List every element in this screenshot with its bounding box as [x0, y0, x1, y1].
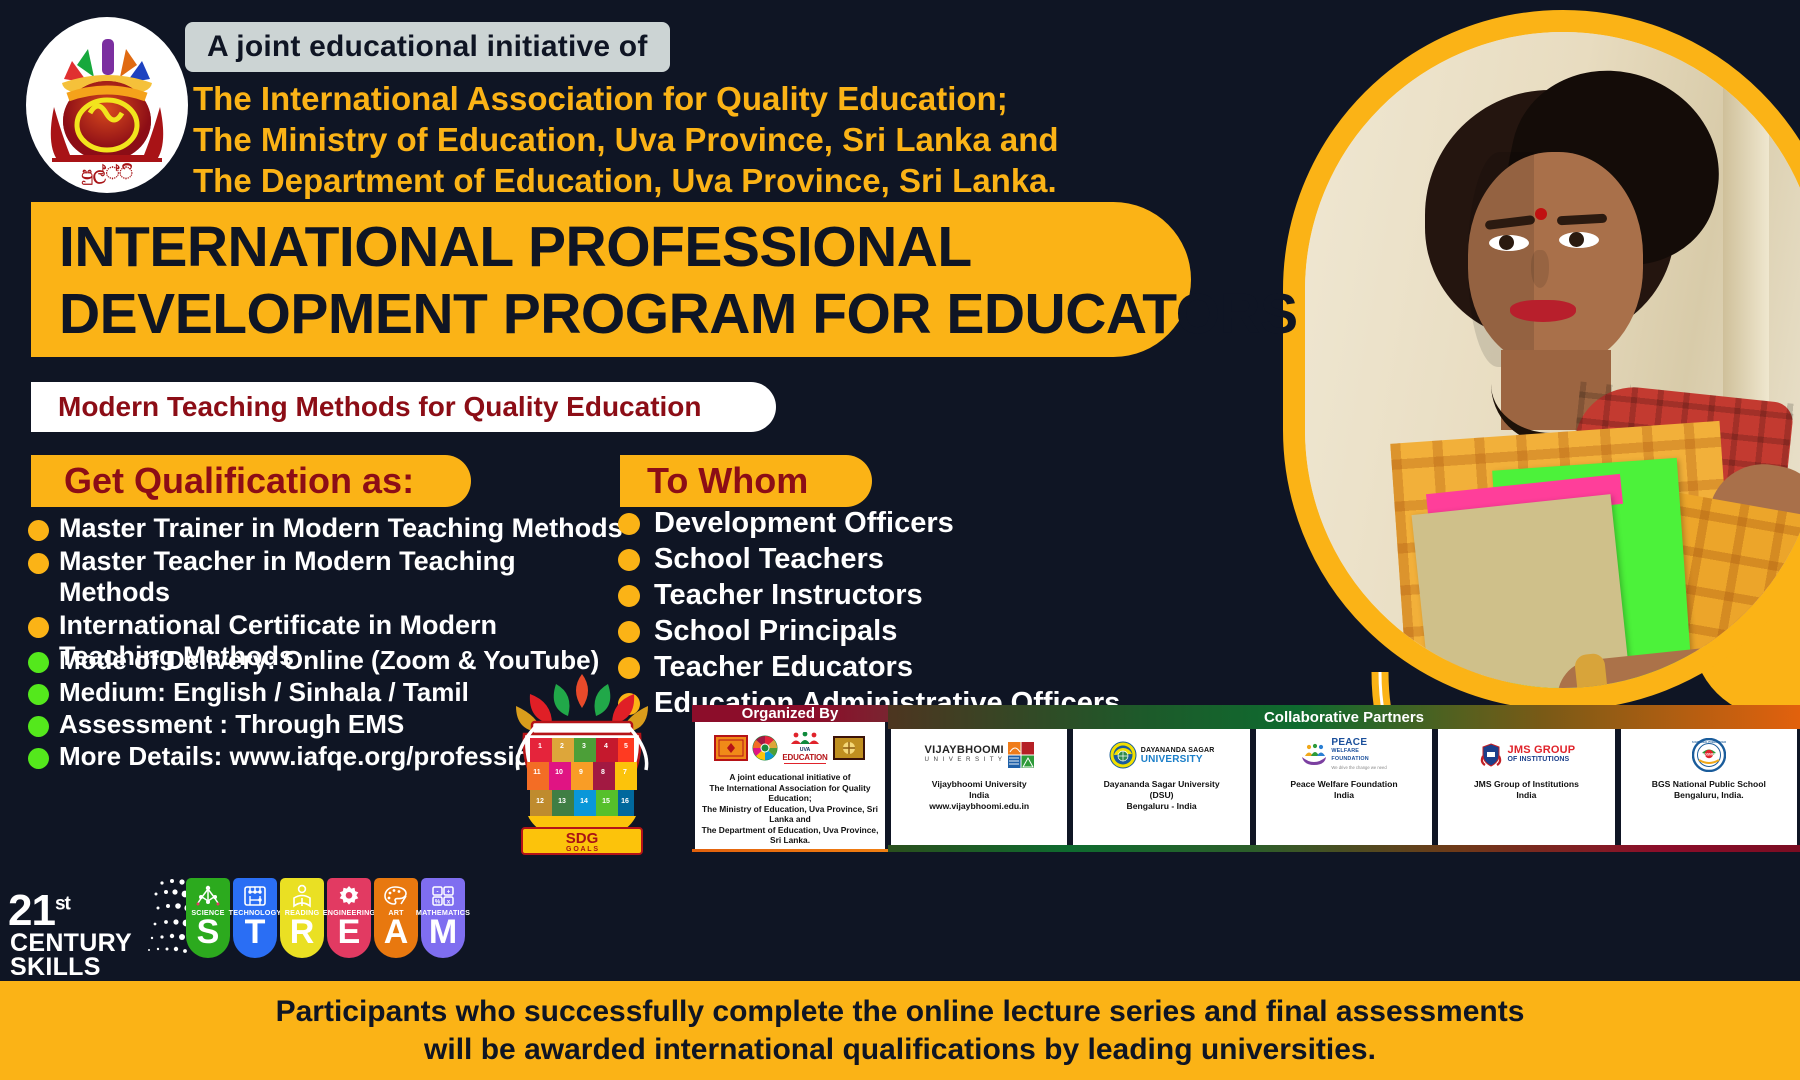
- svg-text:-: -: [437, 889, 439, 895]
- jms-logo-main: JMS GROUP: [1508, 746, 1576, 755]
- dsu-logo-sub: UNIVERSITY: [1141, 755, 1203, 764]
- svg-text:14: 14: [580, 798, 588, 805]
- qualification-item-2: Master Teacher in Modern Teaching Method…: [59, 546, 628, 608]
- list-item: Development Officers: [618, 508, 1138, 538]
- partner-caption-vijaybhoomi: Vijaybhoomi University India www.vijaybh…: [929, 779, 1029, 812]
- organized-by-heading: Organized By: [742, 705, 839, 722]
- svg-text:7: 7: [623, 769, 627, 776]
- footer-banner: Participants who successfully complete t…: [0, 981, 1800, 1080]
- bullet-dot-icon: [28, 652, 49, 673]
- to-whom-item-4: School Principals: [654, 616, 897, 646]
- century-ordinal-suffix: st: [55, 893, 70, 914]
- book-reader-icon: [289, 884, 315, 908]
- stream-letter-engineering: E: [338, 916, 361, 948]
- svg-text:+: +: [447, 889, 451, 895]
- organized-by-caption: A joint educational initiative of The In…: [698, 772, 882, 846]
- jms-group-logo: JMS GROUP OF INSTITUTIONS: [1478, 734, 1576, 776]
- svg-text:1: 1: [538, 743, 542, 750]
- bullet-dot-icon: [28, 716, 49, 737]
- partner-caption-jms-group: JMS Group of Institutions India: [1474, 779, 1579, 801]
- partner-caption-dayananda-sagar: Dayananda Sagar University (DSU) Bengalu…: [1104, 779, 1220, 812]
- collaborative-partners-strip: [888, 845, 1800, 852]
- photo-inner: [1305, 32, 1800, 688]
- svg-text:15: 15: [602, 798, 610, 805]
- organized-by-header: Organized By: [692, 705, 888, 722]
- poster-root: පුල්්ි A joint educational initiative of…: [0, 0, 1800, 1080]
- gear-icon: [336, 884, 362, 908]
- jms-crest-icon: [1478, 742, 1504, 768]
- list-item: Master Teacher in Modern Teaching Method…: [28, 546, 628, 608]
- page-title-line-2: DEVELOPMENT PROGRAM FOR EDUCATORS: [59, 281, 1191, 348]
- subtitle-band: Modern Teaching Methods for Quality Educ…: [31, 382, 776, 432]
- collaborative-partners-body: VIJAYBHOOMI U N I V E R S I T Y: [888, 729, 1800, 845]
- svg-text:8: 8: [601, 769, 605, 776]
- partner-box-bgs-school: BGSNPS BGS NATIONAL PUBLIC SCHOOL BGS Na…: [1621, 729, 1797, 845]
- bullet-dot-icon: [618, 513, 640, 535]
- circuit-icon: [242, 884, 268, 908]
- svg-text:BGS NATIONAL PUBLIC SCHOOL: BGS NATIONAL PUBLIC SCHOOL: [1692, 740, 1726, 744]
- list-item: School Principals: [618, 616, 1138, 646]
- iafqe-logo: පුල්්ි: [26, 17, 188, 193]
- bgs-school-logo: BGSNPS BGS NATIONAL PUBLIC SCHOOL: [1692, 734, 1726, 776]
- partner-box-jms-group: JMS GROUP OF INSTITUTIONS JMS Group of I…: [1438, 729, 1614, 845]
- qualification-heading: Get Qualification as:: [64, 460, 414, 502]
- peace-welfare-logo: PEACE WELFARE FOUNDATION We drive the ch…: [1301, 734, 1386, 776]
- partner-box-dayananda-sagar: DAYANANDA SAGAR UNIVERSITY Dayananda Sag…: [1073, 729, 1249, 845]
- molecule-icon: [195, 884, 221, 908]
- bullet-dot-icon: [28, 520, 49, 541]
- to-whom-item-5: Teacher Educators: [654, 652, 913, 682]
- stream-letter-technology: T: [245, 916, 266, 948]
- vijaybhoomi-logo-main: VIJAYBHOOMI: [925, 745, 1004, 755]
- vijaybhoomi-logo: VIJAYBHOOMI U N I V E R S I T Y: [925, 734, 1034, 776]
- organized-by-body: UVA EDUCATION A joint educational initia…: [692, 722, 888, 849]
- page-title-line-1: INTERNATIONAL PROFESSIONAL: [59, 214, 1191, 281]
- photo-nose: [1531, 250, 1549, 288]
- svg-text:3: 3: [582, 743, 586, 750]
- to-whom-item-1: Development Officers: [654, 508, 954, 538]
- uva-education-logo: UVA EDUCATION: [782, 732, 827, 765]
- partner-caption-bgs-school: BGS National Public School Bengaluru, In…: [1652, 779, 1766, 801]
- svg-text:4: 4: [604, 743, 608, 750]
- svg-text:12: 12: [536, 798, 544, 805]
- qualification-heading-pill: Get Qualification as:: [31, 455, 471, 507]
- collaborative-partners-column: Collaborative Partners VIJAYBHOOMI U N I…: [888, 705, 1800, 852]
- footer-line-1: Participants who successfully complete t…: [276, 993, 1525, 1031]
- peace-logo-tagline: We drive the change we need: [1331, 764, 1386, 772]
- svg-text:16: 16: [621, 798, 629, 805]
- page-subtitle: Modern Teaching Methods for Quality Educ…: [58, 391, 702, 423]
- stream-letter-art: A: [384, 916, 409, 948]
- joint-initiative-text: A joint educational initiative of: [207, 30, 648, 64]
- logo-graphic: පුල්්ි: [32, 25, 182, 185]
- sdg-goals-icon: 123 45 11109 87 121314 1516 SDG G O A L …: [494, 670, 670, 860]
- list-item: Teacher Educators: [618, 652, 1138, 682]
- to-whom-heading-pill: To Whom: [620, 455, 872, 507]
- list-item: Master Trainer in Modern Teaching Method…: [28, 513, 628, 544]
- organizer-line-2: The Ministry of Education, Uva Province,…: [193, 119, 1059, 160]
- qualification-item-1: Master Trainer in Modern Teaching Method…: [59, 513, 623, 544]
- main-title-band: INTERNATIONAL PROFESSIONAL DEVELOPMENT P…: [31, 202, 1191, 357]
- bgs-seal-icon: BGSNPS BGS NATIONAL PUBLIC SCHOOL: [1692, 738, 1726, 772]
- sdg-label-main: SDG: [566, 830, 599, 847]
- stream-badges: SCIENCE S TECHNOLOGY T READING: [186, 878, 465, 958]
- svg-text:පුල්්ි: පුල්්ි: [81, 163, 133, 185]
- sri-lanka-emblem-icon: [714, 735, 748, 761]
- list-item: Teacher Instructors: [618, 580, 1138, 610]
- peace-logo-main: PEACE: [1331, 739, 1367, 747]
- stream-card-technology: TECHNOLOGY T: [233, 878, 277, 958]
- partner-caption-peace-welfare: Peace Welfare Foundation India: [1290, 779, 1397, 801]
- bullet-dot-icon: [618, 621, 640, 643]
- organizer-line-3: The Department of Education, Uva Provinc…: [193, 160, 1059, 201]
- delivery-item-medium: Medium: English / Sinhala / Tamil: [59, 677, 469, 707]
- century-number: 21st: [8, 886, 70, 935]
- sdg-label-sub: G O A L S: [566, 846, 598, 853]
- partner-box-vijaybhoomi: VIJAYBHOOMI U N I V E R S I T Y: [891, 729, 1067, 845]
- stream-card-science: SCIENCE S: [186, 878, 230, 958]
- century-word-1: CENTURY: [10, 931, 132, 955]
- organizer-line-1: The International Association for Qualit…: [193, 78, 1059, 119]
- century-word-2: SKILLS: [10, 955, 132, 979]
- svg-text:10: 10: [555, 769, 563, 776]
- collaborative-partners-header: Collaborative Partners: [888, 705, 1800, 729]
- organized-by-column: Organized By: [692, 705, 888, 852]
- photo-lips: [1510, 300, 1576, 322]
- bullet-dot-icon: [28, 684, 49, 705]
- stream-card-mathematics: -+ %x MATHEMATICS M: [421, 878, 465, 958]
- footer-line-2: will be awarded international qualificat…: [424, 1031, 1376, 1069]
- peace-logo-sub: WELFARE FOUNDATION: [1331, 747, 1379, 763]
- organized-by-strip: [692, 849, 888, 853]
- calculator-icon: -+ %x: [430, 884, 456, 908]
- to-whom-list: Development Officers School Teachers Tea…: [618, 508, 1138, 724]
- delivery-item-more-details[interactable]: More Details: www.iafqe.org/professional: [59, 741, 568, 771]
- stream-letter-mathematics: M: [429, 916, 457, 948]
- organized-by-box: UVA EDUCATION A joint educational initia…: [695, 722, 885, 849]
- list-item: School Teachers: [618, 544, 1138, 574]
- dsu-seal-icon: [1109, 741, 1137, 769]
- bullet-dot-icon: [618, 585, 640, 607]
- jms-logo-sub: OF INSTITUTIONS: [1508, 755, 1570, 764]
- to-whom-item-3: Teacher Instructors: [654, 580, 923, 610]
- bullet-dot-icon: [28, 553, 49, 574]
- svg-text:11: 11: [533, 769, 541, 776]
- to-whom-item-2: School Teachers: [654, 544, 884, 574]
- dayananda-sagar-logo: DAYANANDA SAGAR UNIVERSITY: [1109, 734, 1215, 776]
- delivery-item-assessment: Assessment : Through EMS: [59, 709, 404, 739]
- vijaybhoomi-mark-icon: [1008, 742, 1034, 768]
- svg-text:BGSNPS: BGSNPS: [1702, 753, 1717, 757]
- ministry-emblem-icon: [832, 735, 866, 761]
- svg-text:2: 2: [560, 743, 564, 750]
- uva-people-icon: [785, 732, 825, 745]
- student-photo: [1283, 10, 1800, 710]
- joint-initiative-pill: A joint educational initiative of: [185, 22, 670, 72]
- photo-face-shadow: [1468, 152, 1534, 367]
- svg-text:9: 9: [579, 769, 583, 776]
- to-whom-heading: To Whom: [647, 460, 808, 502]
- photo-pupil-left: [1499, 235, 1514, 250]
- svg-text:5: 5: [624, 743, 628, 750]
- organizer-lines: The International Association for Qualit…: [193, 78, 1059, 201]
- photo-bindi: [1535, 208, 1547, 220]
- peace-hand-people-icon: [1301, 742, 1327, 768]
- partners-panel: Organized By: [692, 705, 1800, 852]
- stream-card-reading: READING R: [280, 878, 324, 958]
- photo-ring: [1719, 668, 1735, 684]
- collaborative-partners-heading: Collaborative Partners: [1264, 709, 1424, 726]
- svg-text:%: %: [435, 899, 441, 905]
- stream-card-art: ART A: [374, 878, 418, 958]
- bullet-dot-icon: [28, 617, 49, 638]
- svg-text:13: 13: [558, 798, 566, 805]
- photo-pupil-right: [1569, 232, 1584, 247]
- stream-card-engineering: ENGINEERING E: [327, 878, 371, 958]
- palette-icon: [383, 884, 409, 908]
- stream-letter-reading: R: [290, 916, 315, 948]
- sdg-wheel-icon: [752, 735, 778, 761]
- partner-box-peace-welfare: PEACE WELFARE FOUNDATION We drive the ch…: [1256, 729, 1432, 845]
- stream-letter-science: S: [197, 916, 220, 948]
- organized-by-logos: UVA EDUCATION: [714, 727, 865, 769]
- bullet-dot-icon: [28, 748, 49, 769]
- vijaybhoomi-logo-sub: U N I V E R S I T Y: [925, 755, 1004, 765]
- bullet-dot-icon: [618, 549, 640, 571]
